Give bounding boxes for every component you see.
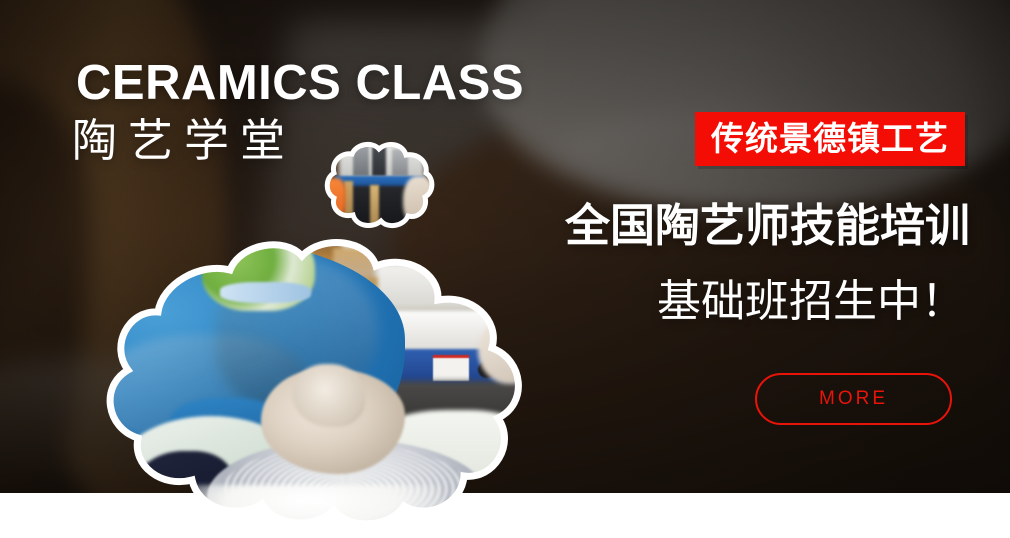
ceramics-class-banner: CERAMICS CLASS 陶艺学堂 传统景德镇工艺 全国陶艺师技能培训 基础… (0, 0, 1010, 538)
headline-english: CERAMICS CLASS (76, 58, 524, 110)
promo-headline-secondary: 基础班招生中！ (565, 280, 965, 324)
headline-block: CERAMICS CLASS 陶艺学堂 (76, 58, 524, 166)
headline-chinese: 陶艺学堂 (72, 116, 524, 166)
promo-copy-block: 传统景德镇工艺 全国陶艺师技能培训 基础班招生中！ (565, 112, 965, 324)
status-badge: 传统景德镇工艺 (695, 112, 965, 166)
promo-headline-primary: 全国陶艺师技能培训 (565, 203, 965, 248)
main-cloud-photo (80, 236, 532, 526)
more-button[interactable]: MORE (755, 373, 952, 425)
